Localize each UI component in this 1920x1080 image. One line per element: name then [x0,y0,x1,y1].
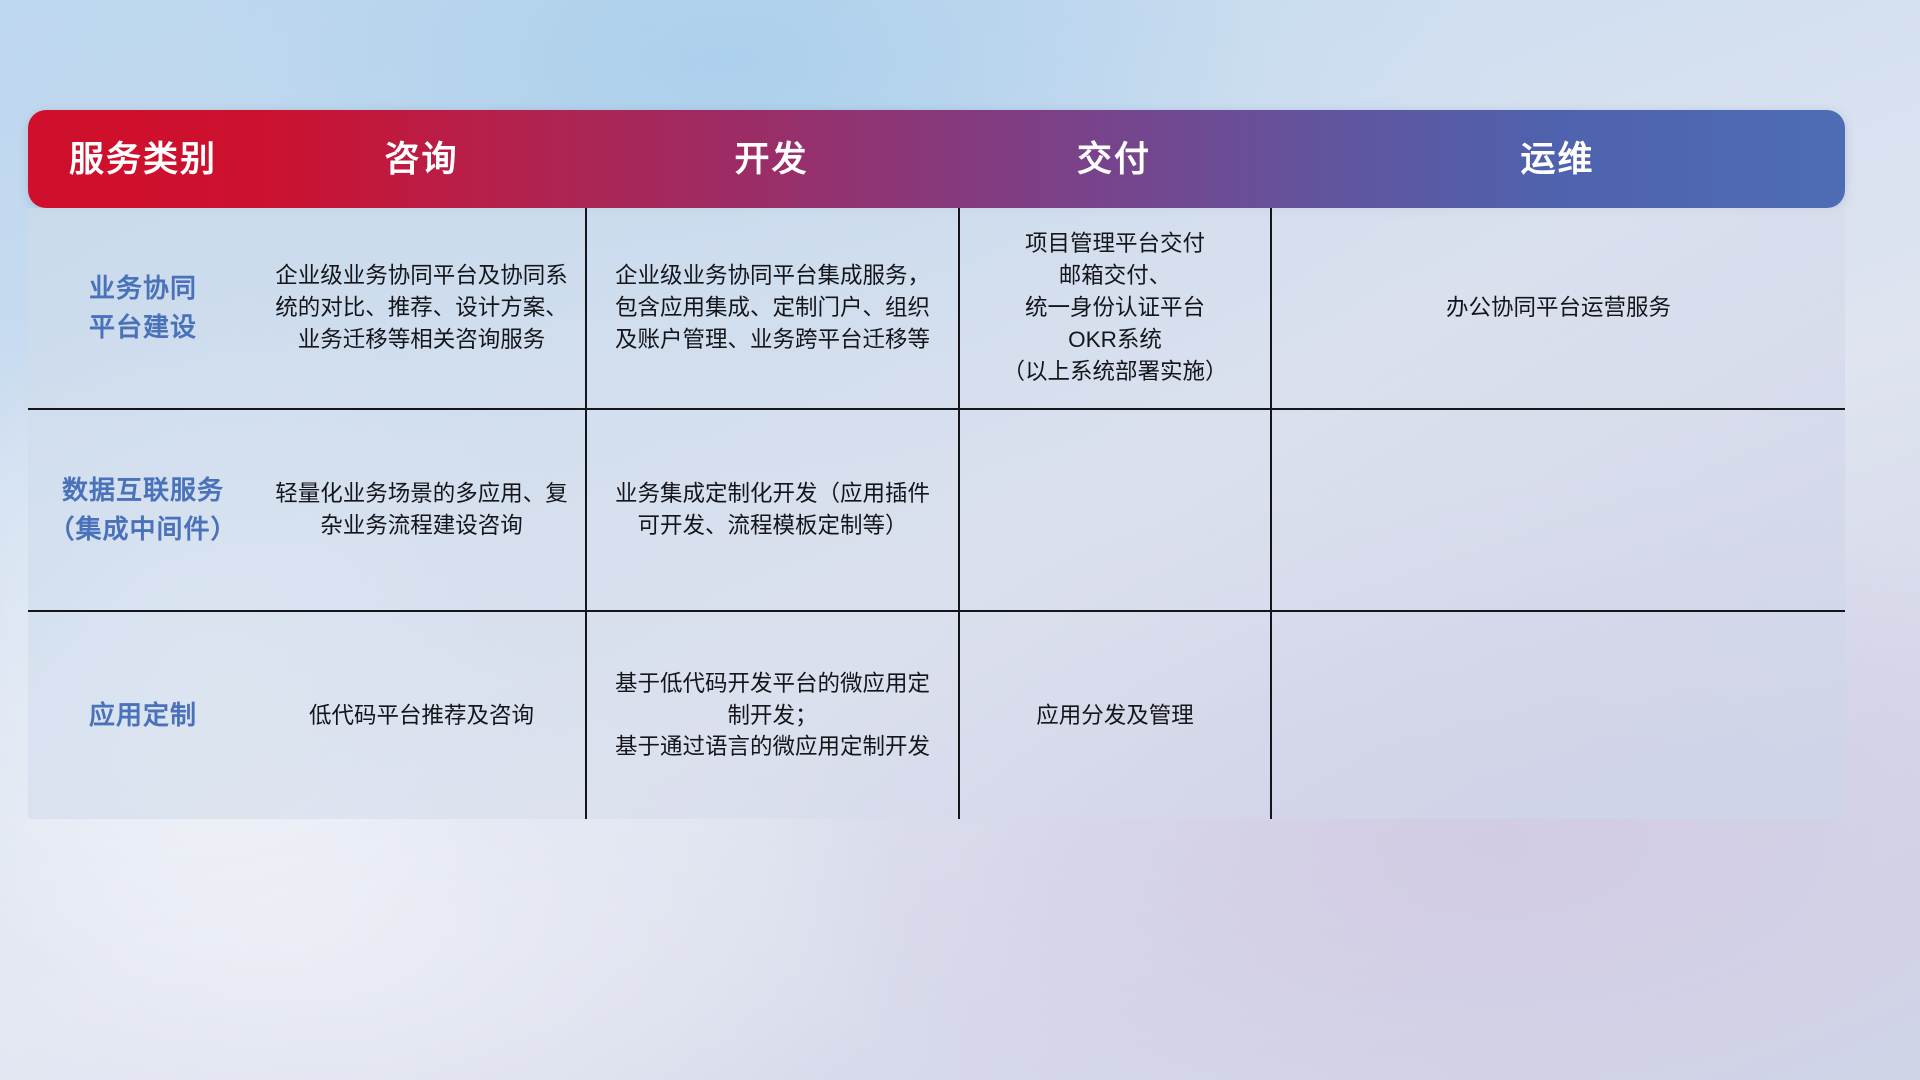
row-label-app-customization: 应用定制 [28,612,258,819]
column-header-category: 服务类别 [28,110,258,208]
column-header-consulting: 咨询 [258,110,585,208]
cell-r1-delivery [958,410,1270,610]
cell-r1-operations [1270,410,1845,610]
table-row: 应用定制 低代码平台推荐及咨询 基于低代码开发平台的微应用定 制开发； 基于通过… [28,610,1845,819]
row-label-data-interconnect: 数据互联服务 （集成中间件） [28,410,258,610]
table-header-row: 服务类别 咨询 开发 交付 运维 [28,110,1845,208]
table-row: 数据互联服务 （集成中间件） 轻量化业务场景的多应用、复 杂业务流程建设咨询 业… [28,408,1845,610]
table-row: 业务协同 平台建设 企业级业务协同平台及协同系 统的对比、推荐、设计方案、 业务… [28,208,1845,408]
cell-r0-development: 企业级业务协同平台集成服务， 包含应用集成、定制门户、组织 及账户管理、业务跨平… [585,208,958,408]
cell-r0-consulting: 企业级业务协同平台及协同系 统的对比、推荐、设计方案、 业务迁移等相关咨询服务 [258,208,585,408]
service-matrix-table: 服务类别 咨询 开发 交付 运维 业务协同 平台建设 企业级业务协同平台及协同系… [28,110,1845,819]
column-header-operations: 运维 [1270,110,1845,208]
cell-r1-development: 业务集成定制化开发（应用插件 可开发、流程模板定制等） [585,410,958,610]
cell-r2-development: 基于低代码开发平台的微应用定 制开发； 基于通过语言的微应用定制开发 [585,612,958,819]
cell-r1-consulting: 轻量化业务场景的多应用、复 杂业务流程建设咨询 [258,410,585,610]
column-header-delivery: 交付 [958,110,1270,208]
cell-r2-operations [1270,612,1845,819]
table-body: 业务协同 平台建设 企业级业务协同平台及协同系 统的对比、推荐、设计方案、 业务… [28,208,1845,819]
row-label-business-collaboration: 业务协同 平台建设 [28,208,258,408]
cell-r2-consulting: 低代码平台推荐及咨询 [258,612,585,819]
column-header-development: 开发 [585,110,958,208]
cell-r0-operations: 办公协同平台运营服务 [1270,208,1845,408]
cell-r2-delivery: 应用分发及管理 [958,612,1270,819]
cell-r0-delivery: 项目管理平台交付 邮箱交付、 统一身份认证平台 OKR系统 （以上系统部署实施） [958,208,1270,408]
